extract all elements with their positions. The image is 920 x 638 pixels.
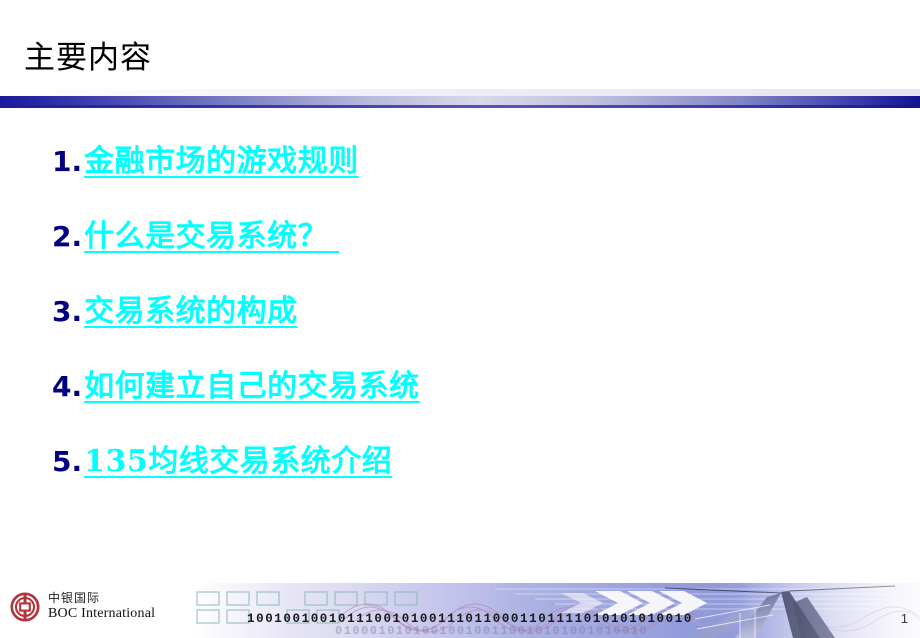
agenda-item-link-2[interactable]: 什么是交易系统？ [84,211,339,255]
boc-logo: 中银国际 BOC International [10,592,155,622]
boc-coin-logo-icon [10,592,40,622]
agenda-item-number: 3. [52,295,82,328]
list-item[interactable]: 3. 交易系统的构成 [52,286,892,361]
agenda-item-number: 5. [52,445,82,478]
divider-highlight-band [0,89,920,96]
page-title: 主要内容 [24,38,152,78]
agenda-item-link-1[interactable]: 金融市场的游戏规则 [84,136,359,180]
page-number: 1 [901,611,908,626]
divider-gradient-band [0,96,920,105]
list-item[interactable]: 1. 金融市场的游戏规则 [52,136,892,211]
list-item[interactable]: 4. 如何建立自己的交易系统 [52,361,892,436]
boc-name-cn: 中银国际 [48,592,155,606]
agenda-item-number: 2. [52,220,82,253]
agenda-item-link-5[interactable]: 135均线交易系统介绍 [84,436,392,480]
agenda-item-link-3[interactable]: 交易系统的构成 [84,286,298,330]
agenda-list: 1. 金融市场的游戏规则 2. 什么是交易系统？ 3. 交易系统的构成 4. 如… [52,136,892,511]
agenda-item-link-4[interactable]: 如何建立自己的交易系统 [84,361,420,405]
agenda-item-number: 1. [52,145,82,178]
divider-shadow-band [0,105,920,108]
binary-string-secondary: 010001010100100100110010101001010010 [335,624,895,638]
list-item[interactable]: 5. 135均线交易系统介绍 [52,436,892,511]
agenda-item-number: 4. [52,370,82,403]
boc-logo-text: 中银国际 BOC International [48,592,155,622]
title-divider [0,89,920,108]
footer-artwork: 1001001001011100101001110110001101111010… [195,583,920,638]
list-item[interactable]: 2. 什么是交易系统？ [52,211,892,286]
boc-name-en: BOC International [48,606,155,622]
